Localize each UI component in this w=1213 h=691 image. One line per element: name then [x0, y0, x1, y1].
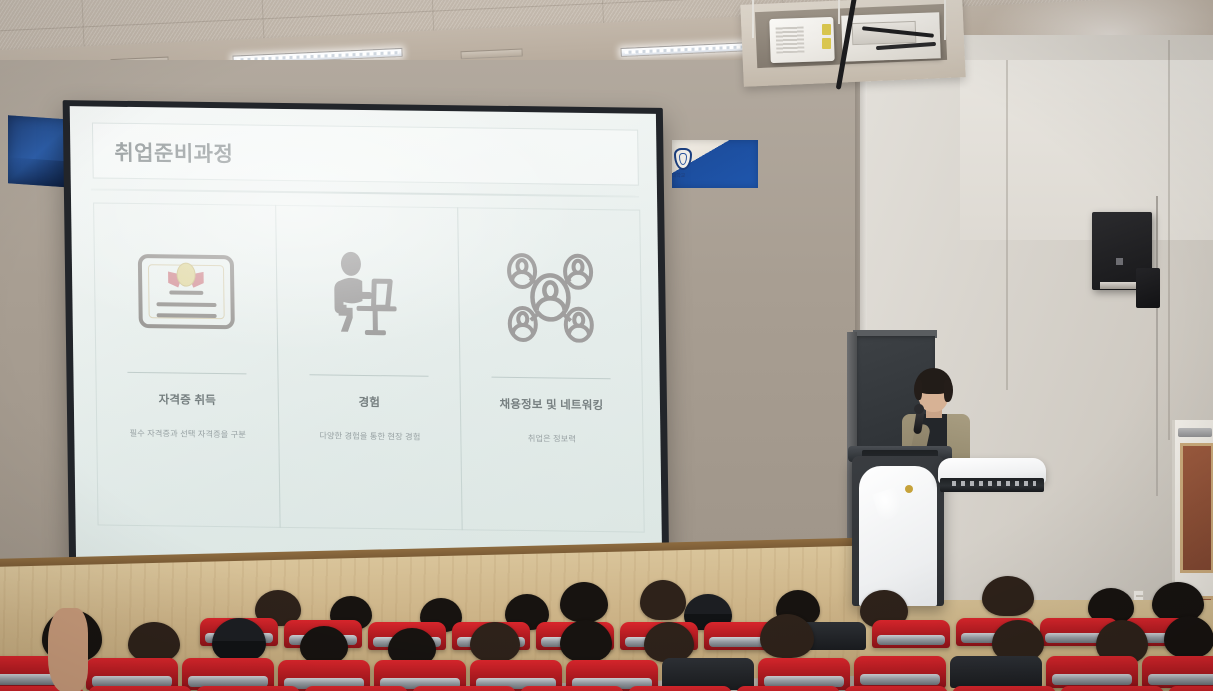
- slide-card-row: 자격증 취득 필수 자격증과 선택 자격증을 구분: [93, 202, 644, 532]
- card-title-3: 채용정보 및 네트워킹: [499, 396, 603, 413]
- projector-hanger-rod-1: [752, 0, 754, 38]
- ceiling-light-4: [460, 48, 522, 59]
- speaker-grille: [1100, 282, 1136, 289]
- person-at-laptop-svg: [325, 250, 410, 337]
- audience-head: [644, 622, 694, 662]
- card-title-2: 경험: [358, 394, 380, 410]
- wall-seam-2: [1168, 40, 1170, 440]
- seat[interactable]: [628, 686, 732, 691]
- projector-hanger-rod-3: [944, 0, 946, 40]
- card-desc-2: 다양한 경험을 통한 현장 경험: [319, 429, 420, 442]
- projector-vent: [776, 27, 805, 54]
- door-panel-upper: [1180, 443, 1213, 573]
- speaker-wire: [1156, 196, 1158, 496]
- audience-head: [982, 576, 1034, 616]
- seat[interactable]: [1142, 656, 1213, 688]
- projection-screen-surface: 취업준비과정: [70, 106, 663, 569]
- person-at-laptop-icon: [284, 218, 451, 370]
- audience-head: [640, 580, 686, 620]
- presenter-hair-left: [914, 380, 922, 400]
- crest-label: 대학교: [672, 172, 712, 179]
- slide-card-networking: 채용정보 및 네트워킹 취업은 정보력: [457, 207, 645, 532]
- wall-seam-1: [1006, 60, 1008, 390]
- ceiling-light-2: [621, 42, 751, 57]
- award-seal-icon: [173, 260, 197, 292]
- seat[interactable]: [88, 686, 192, 691]
- speaker-indicator: [1116, 258, 1123, 265]
- seat[interactable]: [1046, 656, 1138, 688]
- slide-card-certificate: 자격증 취득 필수 자격증과 선택 자격증을 구분: [93, 202, 281, 527]
- speaker-mount-bracket: [1136, 268, 1160, 308]
- card-divider: [128, 372, 247, 375]
- seat[interactable]: [872, 620, 950, 648]
- presentation-slide: 취업준비과정: [70, 106, 663, 569]
- card-divider: [492, 377, 611, 380]
- audience-face-foreground: [48, 608, 88, 691]
- slide-title-divider: [91, 188, 639, 197]
- card-divider: [310, 374, 429, 377]
- projection-screen: 취업준비과정: [63, 100, 670, 578]
- door-closer-hardware: [1178, 428, 1212, 437]
- page-title: 취업준비과정: [114, 137, 233, 169]
- audience-head: [128, 622, 180, 662]
- card-desc-3: 취업은 정보력: [528, 432, 576, 445]
- certificate-icon: [102, 216, 269, 368]
- audience-head: [560, 582, 608, 622]
- right-wall-upper: [960, 60, 1213, 240]
- seat[interactable]: [196, 686, 300, 691]
- seat[interactable]: [736, 686, 840, 691]
- seat[interactable]: [1168, 686, 1213, 691]
- presenter-hair-right: [944, 380, 953, 402]
- seat[interactable]: [844, 686, 948, 691]
- projector-sticker-2: [822, 38, 831, 49]
- projector-sticker-1: [822, 24, 831, 35]
- projector-hanger-rod-2: [838, 0, 840, 24]
- podium-emblem: [905, 485, 913, 493]
- seat-empty[interactable]: [950, 656, 1042, 688]
- seat[interactable]: [854, 656, 946, 688]
- slide-card-experience: 경험 다양한 경험을 통한 현장 경험: [275, 205, 463, 530]
- audience-head: [1164, 616, 1213, 658]
- audience-head: [560, 620, 612, 662]
- seat[interactable]: [952, 686, 1056, 691]
- audience-area: [0, 560, 1213, 691]
- seat[interactable]: [1060, 686, 1164, 691]
- seat[interactable]: [304, 686, 408, 691]
- audience-head: [760, 614, 814, 658]
- audience-head: [300, 626, 348, 664]
- podium-control-buttons[interactable]: [952, 481, 1036, 486]
- audience-head: [470, 622, 520, 662]
- seat[interactable]: [520, 686, 624, 691]
- people-network-icon: [466, 220, 633, 372]
- card-desc-1: 필수 자격증과 선택 자격증을 구분: [130, 427, 247, 441]
- audience-head: [1152, 582, 1204, 622]
- people-network-svg: [501, 250, 598, 343]
- seat[interactable]: [412, 686, 516, 691]
- card-title-1: 자격증 취득: [159, 391, 217, 408]
- lecture-hall-scene: 대학교 취업준비과정: [0, 0, 1213, 691]
